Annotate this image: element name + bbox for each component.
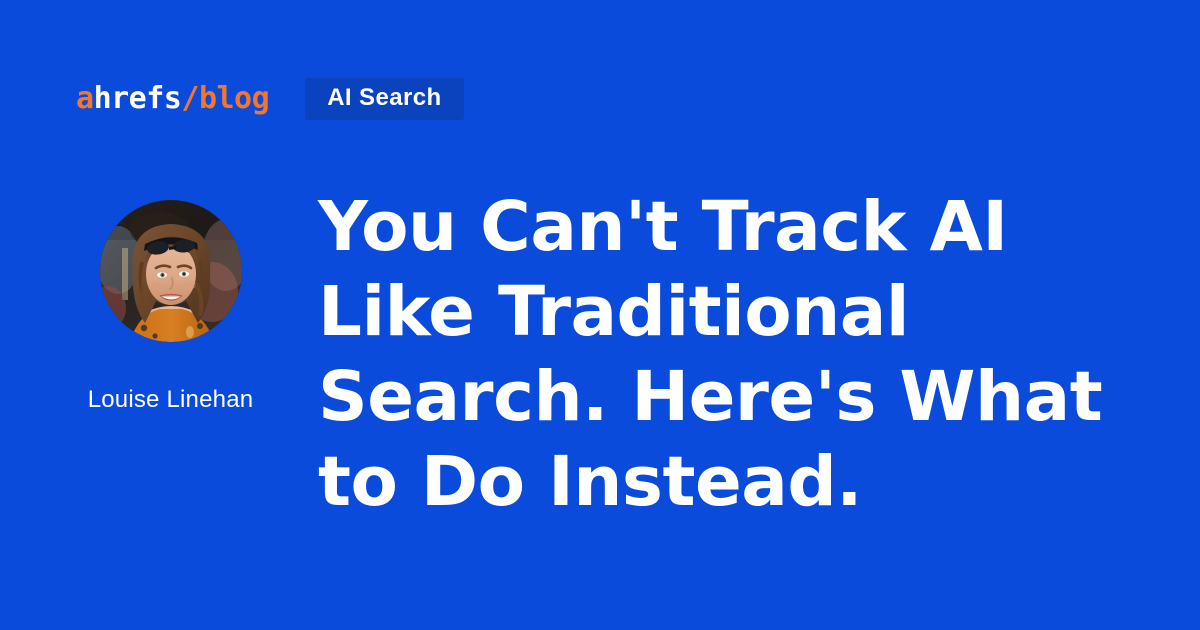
logo-text-hrefs: hrefs: [94, 82, 182, 116]
title-line-4: to Do Instead.: [318, 440, 1128, 525]
social-share-card: ahrefs/blog AI Search: [0, 0, 1200, 630]
logo-letter-a: a: [76, 82, 94, 116]
card-header: ahrefs/blog AI Search: [76, 78, 464, 120]
title-line-2: Like Traditional: [318, 270, 1128, 355]
ahrefs-blog-logo[interactable]: ahrefs/blog: [76, 82, 269, 116]
title-line-1: You Can't Track AI: [318, 185, 1128, 270]
logo-slash-icon: /: [181, 82, 199, 116]
title-line-3: Search. Here's What: [318, 355, 1128, 440]
author-name[interactable]: Louise Linehan: [88, 386, 254, 414]
author-avatar-photo: [100, 200, 242, 342]
category-badge-ai-search[interactable]: AI Search: [305, 78, 463, 120]
author-avatar: [100, 200, 242, 342]
article-title[interactable]: You Can't Track AI Like Traditional Sear…: [318, 185, 1128, 525]
logo-text-blog: blog: [199, 82, 269, 116]
author-block: Louise Linehan: [68, 200, 273, 414]
